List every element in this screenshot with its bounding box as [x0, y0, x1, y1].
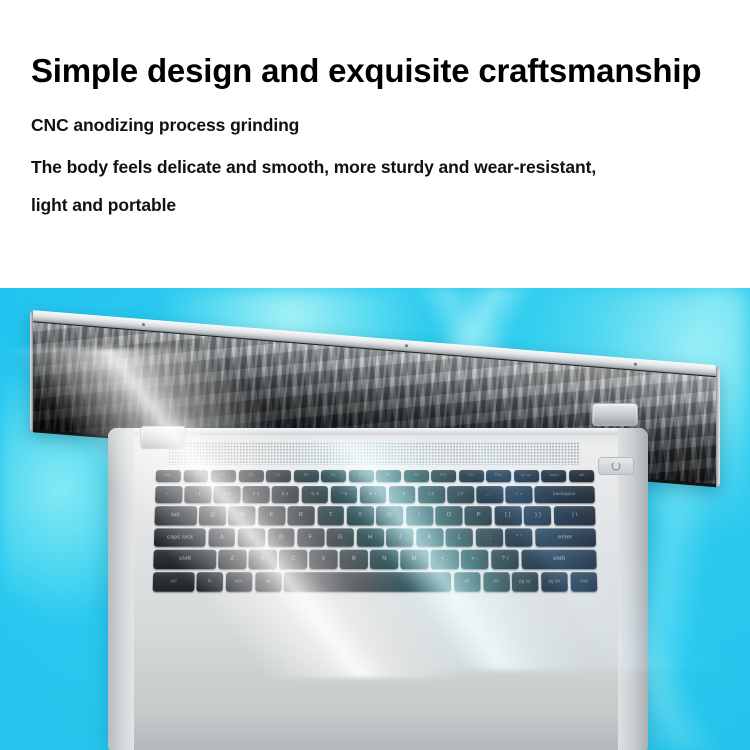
key-q[interactable]: Q	[199, 506, 226, 525]
key-k[interactable]: K	[416, 528, 443, 547]
key-t[interactable]: T	[317, 506, 344, 525]
key-label: S	[249, 534, 253, 540]
key-7[interactable]: & 7	[360, 486, 387, 504]
key-esc[interactable]: esc	[156, 470, 181, 482]
key-label: > .	[471, 556, 478, 562]
key-label: $ 4	[282, 492, 289, 496]
key-r[interactable]: R	[288, 506, 315, 525]
key-label: F6	[331, 474, 335, 477]
key-2[interactable]: @ 2	[214, 486, 241, 504]
key-label: F1	[194, 474, 198, 477]
key-end[interactable]: end	[570, 572, 597, 592]
key-m[interactable]: M	[400, 550, 428, 569]
key-label: pg dn	[549, 579, 561, 583]
key-label: del	[579, 474, 584, 477]
key-f11[interactable]: F11	[459, 470, 484, 482]
key-8[interactable]: * 8	[389, 486, 416, 504]
lid-left-edge	[30, 310, 33, 432]
sensor-dot2-icon	[634, 363, 637, 366]
power-icon	[612, 462, 621, 471]
key-f10[interactable]: F10	[431, 470, 456, 482]
key-g[interactable]: G	[327, 528, 354, 547]
key-label: N	[382, 556, 386, 562]
key-f8[interactable]: F8	[376, 470, 401, 482]
key-label: ( 9	[429, 492, 435, 496]
key-insert[interactable]: insert	[541, 470, 566, 482]
key-label: C	[291, 556, 296, 562]
key-i[interactable]: I	[406, 506, 433, 525]
key-9[interactable]: ( 9	[418, 486, 445, 504]
subtitle-line-3: light and portable	[31, 195, 176, 216]
key-label: : ;	[486, 534, 492, 540]
key-fn[interactable]: fn	[196, 572, 223, 592]
key-0[interactable]: ) 0	[447, 486, 474, 504]
key-label: F5	[304, 474, 308, 477]
key-label: insert	[549, 474, 559, 477]
key-label: P	[476, 512, 480, 518]
key-label: G	[338, 534, 343, 540]
key-label: < ,	[441, 556, 448, 562]
key-label: U	[388, 512, 392, 518]
key-row-bottom-letters: shift Z X C V B N M < , > . ? / shift	[153, 550, 596, 569]
key-label: E	[270, 512, 274, 518]
key-label: T	[329, 512, 333, 518]
key-label: K	[428, 534, 432, 540]
key-label: F2	[221, 474, 225, 477]
key-3[interactable]: # 3	[243, 486, 270, 504]
marketing-text-block: Simple design and exquisite craftsmanshi…	[0, 0, 750, 288]
key-shift-right[interactable]: shift	[522, 550, 597, 569]
key-j[interactable]: J	[386, 528, 413, 547]
key-label: pg up	[520, 579, 532, 583]
key-label: ctrl	[493, 579, 499, 583]
key-label: A	[220, 534, 224, 540]
key-label: " '	[516, 534, 522, 540]
key-alt-right[interactable]: alt	[454, 572, 481, 592]
key-label: ! 1	[195, 492, 201, 496]
page-title: Simple design and exquisite craftsmanshi…	[31, 52, 701, 90]
key-label: % 5	[311, 492, 319, 496]
key-label: O	[446, 512, 451, 518]
key-x[interactable]: X	[249, 550, 277, 569]
key-caps-lock[interactable]: caps lock	[154, 528, 206, 547]
key-alt-left[interactable]: alt	[255, 572, 282, 592]
key-label: F10	[441, 474, 447, 477]
deck-side-left	[108, 428, 134, 750]
key-label: + =	[516, 492, 523, 496]
key-z[interactable]: Z	[218, 550, 246, 569]
key-label: H	[368, 534, 372, 540]
key-prtsc[interactable]: prt sc	[514, 470, 539, 482]
key-row-function: esc F1 F2 F3 F4 F5 F6 F7 F8 F9 F10 F11 F…	[156, 470, 595, 482]
key-tab[interactable]: tab	[155, 506, 197, 525]
key-f12[interactable]: F12	[486, 470, 511, 482]
key-label: F9	[414, 474, 418, 477]
key-row-qwerty: tab Q W E R T Y U I O P { [ } ] | \	[155, 506, 596, 525]
key-4[interactable]: $ 4	[272, 486, 299, 504]
key-label: backspace	[553, 492, 576, 496]
key-label: prt sc	[522, 474, 532, 477]
key-delete[interactable]: del	[569, 470, 594, 482]
key-n[interactable]: N	[370, 550, 398, 569]
key-label: M	[412, 556, 417, 562]
key-row-number: ~ ` ! 1 @ 2 # 3 $ 4 % 5 ^ 6 & 7 * 8 ( 9 …	[155, 486, 595, 504]
key-f5[interactable]: F5	[294, 470, 319, 482]
key-label: D	[279, 534, 284, 540]
key-label: alt	[465, 579, 470, 583]
key-label: _ -	[487, 492, 493, 496]
key-label: win	[236, 579, 243, 583]
key-b[interactable]: B	[340, 550, 368, 569]
key-label: Q	[210, 512, 215, 518]
key-backspace[interactable]: backspace	[535, 486, 595, 504]
key-label: J	[398, 534, 401, 540]
key-label: # 3	[253, 492, 260, 496]
key-label: ? /	[502, 556, 509, 562]
key-label: X	[261, 556, 265, 562]
key-label: * 8	[399, 492, 405, 496]
key-f7[interactable]: F7	[349, 470, 374, 482]
key-label: } ]	[535, 512, 541, 518]
key-quote[interactable]: " '	[505, 528, 532, 547]
key-label: R	[299, 512, 304, 518]
key-5[interactable]: % 5	[301, 486, 328, 504]
key-f4[interactable]: F4	[266, 470, 291, 482]
key-label: & 7	[369, 492, 376, 496]
key-ctrl-left[interactable]: ctrl	[153, 572, 195, 592]
key-label: Z	[230, 556, 234, 562]
deck-top-lip	[108, 428, 648, 435]
key-w[interactable]: W	[228, 506, 255, 525]
key-f[interactable]: F	[297, 528, 324, 547]
key-label: end	[580, 579, 588, 583]
key-period[interactable]: > .	[461, 550, 489, 569]
key-label: caps lock	[167, 534, 194, 540]
key-label: { [	[505, 512, 511, 518]
key-v[interactable]: V	[309, 550, 337, 569]
laptop-device: esc F1 F2 F3 F4 F5 F6 F7 F8 F9 F10 F11 F…	[0, 288, 750, 750]
key-label: fn	[208, 579, 212, 583]
key-label: F7	[359, 474, 363, 477]
key-spacebar[interactable]	[284, 572, 451, 592]
keyboard-keys-area: esc F1 F2 F3 F4 F5 F6 F7 F8 F9 F10 F11 F…	[152, 470, 598, 610]
key-f1[interactable]: F1	[183, 470, 208, 482]
keyboard[interactable]: esc F1 F2 F3 F4 F5 F6 F7 F8 F9 F10 F11 F…	[156, 470, 594, 608]
key-slash[interactable]: ? /	[491, 550, 519, 569]
key-row-modifier: ctrl fn win alt alt ctrl pg up pg dn end	[153, 572, 598, 592]
key-label: ) 0	[458, 492, 464, 496]
subtitle-line-2: The body feels delicate and smooth, more…	[31, 157, 596, 178]
key-f3[interactable]: F3	[238, 470, 263, 482]
key-comma[interactable]: < ,	[431, 550, 459, 569]
key-equal[interactable]: + =	[506, 486, 533, 504]
deck-side-right	[618, 428, 648, 750]
key-e[interactable]: E	[258, 506, 285, 525]
key-label: F3	[249, 474, 253, 477]
webcam-icon	[142, 323, 145, 326]
key-row-home: caps lock A S D F G H J K L : ; " ' ente…	[154, 528, 596, 547]
key-label: shift	[179, 556, 191, 562]
lid-right-edge	[716, 365, 720, 487]
key-label: esc	[165, 474, 171, 477]
key-label: ~ `	[166, 492, 172, 496]
key-label: L	[458, 534, 462, 540]
key-label: F11	[468, 474, 474, 477]
key-label: W	[239, 512, 245, 518]
key-shift-left[interactable]: shift	[153, 550, 216, 569]
key-ctrl-right[interactable]: ctrl	[483, 572, 510, 592]
power-button[interactable]	[598, 457, 634, 475]
key-label: ctrl	[170, 579, 177, 583]
key-page-down[interactable]: pg dn	[541, 572, 568, 592]
key-minus[interactable]: _ -	[476, 486, 503, 504]
product-photo: esc F1 F2 F3 F4 F5 F6 F7 F8 F9 F10 F11 F…	[0, 288, 750, 750]
key-y[interactable]: Y	[347, 506, 374, 525]
key-p[interactable]: P	[465, 506, 492, 525]
key-s[interactable]: S	[238, 528, 265, 547]
key-tilde[interactable]: ~ `	[155, 486, 182, 504]
key-label: shift	[553, 556, 565, 562]
key-u[interactable]: U	[376, 506, 403, 525]
key-label: V	[321, 556, 325, 562]
key-semicolon[interactable]: : ;	[475, 528, 502, 547]
subtitle-line-1: CNC anodizing process grinding	[31, 115, 299, 136]
key-d[interactable]: D	[268, 528, 295, 547]
key-h[interactable]: H	[357, 528, 384, 547]
key-label: @ 2	[223, 492, 232, 496]
key-page-up[interactable]: pg up	[512, 572, 539, 592]
key-c[interactable]: C	[279, 550, 307, 569]
key-label: F12	[496, 474, 503, 477]
hinge-cap-right	[592, 403, 638, 426]
key-6[interactable]: ^ 6	[330, 486, 357, 504]
key-bracket-left[interactable]: { [	[494, 506, 521, 525]
key-o[interactable]: O	[435, 506, 462, 525]
key-label: F	[309, 534, 313, 540]
key-label: alt	[266, 579, 271, 583]
key-backslash[interactable]: | \	[553, 506, 595, 525]
key-l[interactable]: L	[446, 528, 473, 547]
key-label: tab	[171, 512, 180, 518]
key-label: I	[418, 512, 420, 518]
key-label: | \	[572, 512, 578, 518]
key-label: ^ 6	[341, 492, 347, 496]
key-windows-icon[interactable]: win	[226, 572, 253, 592]
key-enter[interactable]: enter	[535, 528, 596, 547]
sensor-dot-icon	[405, 344, 408, 347]
key-bracket-right[interactable]: } ]	[524, 506, 551, 525]
key-label: Y	[358, 512, 362, 518]
key-f2[interactable]: F2	[211, 470, 236, 482]
key-f6[interactable]: F6	[321, 470, 346, 482]
key-label: enter	[558, 534, 573, 540]
speaker-grille	[168, 442, 580, 465]
key-1[interactable]: ! 1	[184, 486, 211, 504]
key-label: F8	[387, 474, 391, 477]
key-label: F4	[276, 474, 280, 477]
key-label: B	[352, 556, 356, 562]
key-a[interactable]: A	[208, 528, 235, 547]
key-f9[interactable]: F9	[404, 470, 429, 482]
